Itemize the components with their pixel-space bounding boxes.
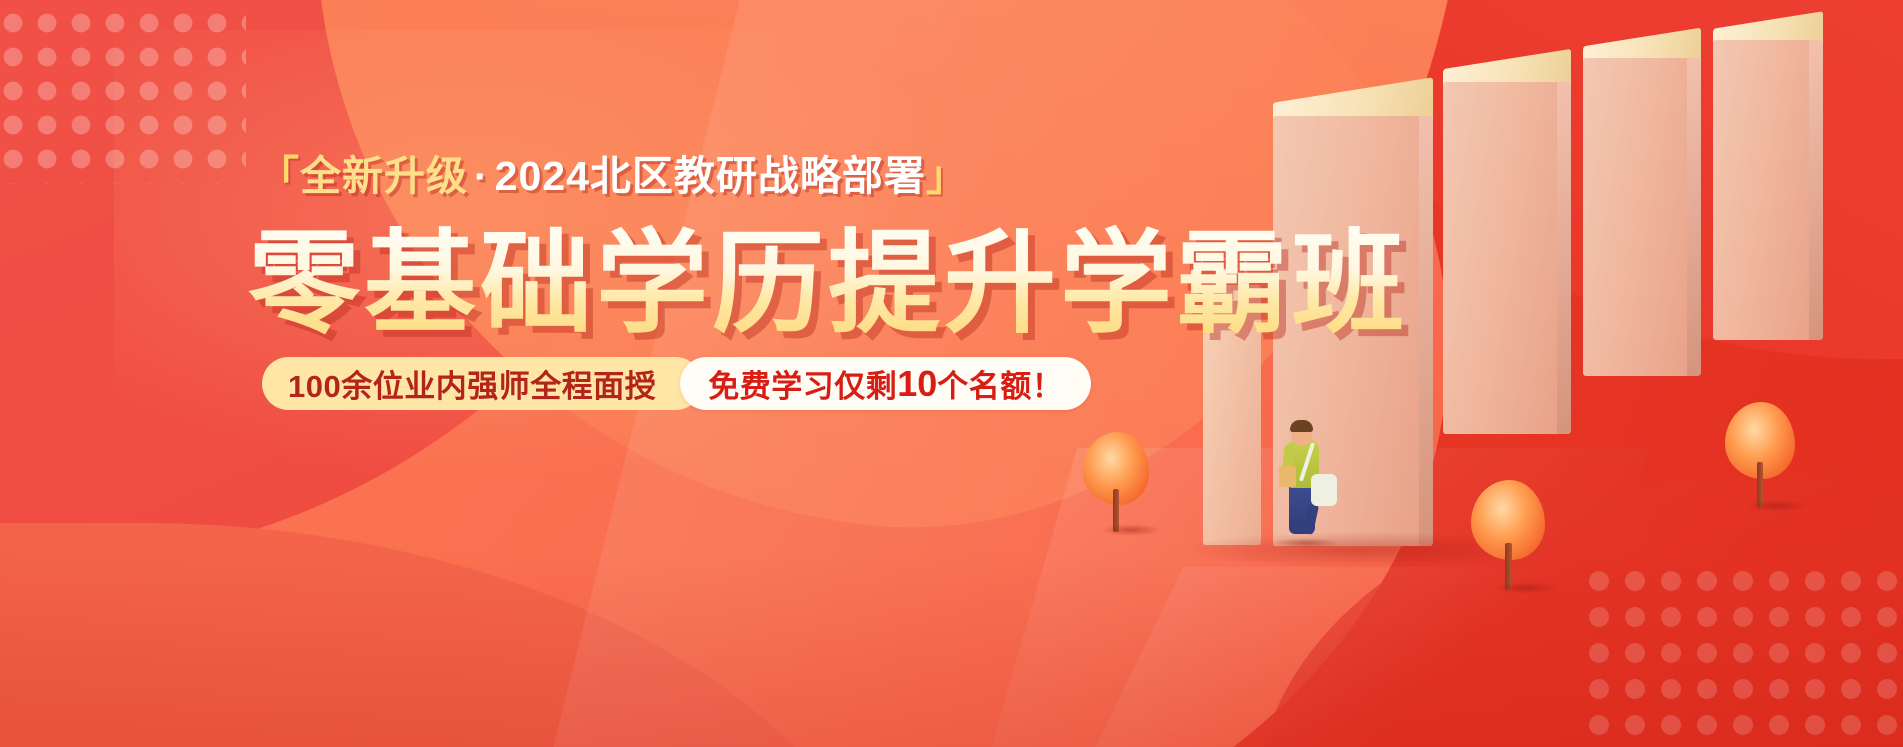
subtitle-rest: 2024北区教研战略部署 — [495, 153, 926, 199]
pill-instructors: 100余位业内强师全程面授 — [262, 357, 702, 410]
banner-content: 「全新升级·2024北区教研战略部署」 零基础学历提升学霸班 100余位业内强师… — [0, 0, 1903, 747]
pill-instructors-label: 100余位业内强师全程面授 — [288, 361, 656, 406]
pill-seats-prefix: 免费学习仅剩 — [708, 361, 897, 406]
banner-subtitle: 「全新升级·2024北区教研战略部署」 — [258, 156, 968, 197]
pill-seats-count: 10 — [897, 363, 937, 405]
promo-banner: 「全新升级·2024北区教研战略部署」 零基础学历提升学霸班 100余位业内强师… — [0, 0, 1903, 747]
banner-title: 零基础学历提升学霸班 — [248, 224, 1408, 345]
pill-seats-suffix: 个名额！ — [937, 361, 1063, 406]
subtitle-highlight: 全新升级 — [300, 153, 468, 199]
pill-seats-remaining[interactable]: 免费学习仅剩10个名额！ — [680, 357, 1091, 410]
subtitle-bracket-close: 」 — [926, 153, 968, 199]
banner-pill-group: 100余位业内强师全程面授 免费学习仅剩10个名额！ — [262, 357, 1091, 410]
subtitle-separator: · — [468, 153, 495, 199]
subtitle-bracket-open: 「 — [258, 153, 300, 199]
